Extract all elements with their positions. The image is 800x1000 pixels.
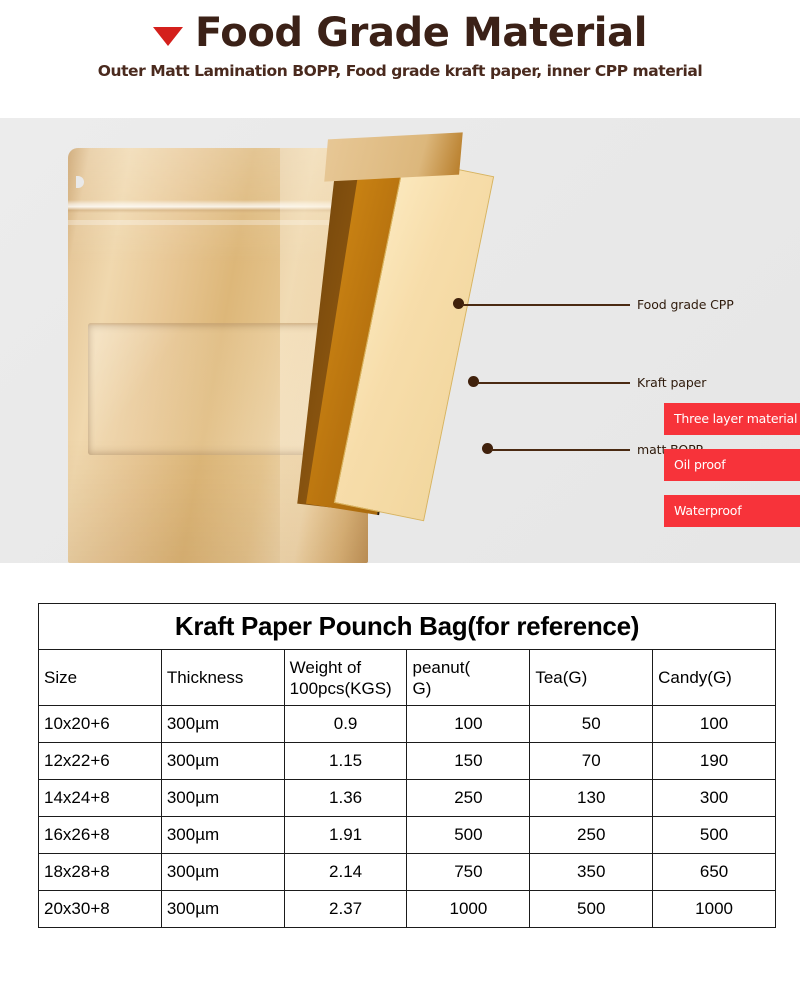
page-header: Food Grade Material Outer Matt Laminatio… bbox=[0, 0, 800, 118]
badge-oil-proof[interactable]: Oil proof bbox=[664, 449, 800, 481]
callout-line-kraft bbox=[477, 382, 630, 384]
cell-candy: 650 bbox=[653, 854, 776, 891]
cell-weight: 1.91 bbox=[284, 817, 407, 854]
feature-badges: Three layer material Oil proof Waterproo… bbox=[664, 403, 800, 541]
spec-table-wrapper: Kraft Paper Pounch Bag(for reference) Si… bbox=[38, 603, 776, 928]
bag-open-flap bbox=[324, 132, 463, 181]
cell-peanut: 1000 bbox=[407, 891, 530, 928]
callout-line-cpp bbox=[462, 304, 630, 306]
cell-thickness: 300µm bbox=[161, 706, 284, 743]
hero-image-band: Food grade CPP Kraft paper matt BOPP Thr… bbox=[0, 118, 800, 563]
cell-peanut: 250 bbox=[407, 780, 530, 817]
cell-peanut: 150 bbox=[407, 743, 530, 780]
col-header-weight-line1: Weight of bbox=[290, 658, 362, 677]
badge-three-layer-material[interactable]: Three layer material bbox=[664, 403, 800, 435]
callout-label-cpp: Food grade CPP bbox=[637, 297, 734, 312]
material-layers-illustration bbox=[300, 128, 560, 518]
cell-size: 10x20+6 bbox=[39, 706, 162, 743]
cell-size: 16x26+8 bbox=[39, 817, 162, 854]
cell-peanut: 500 bbox=[407, 817, 530, 854]
cell-tea: 130 bbox=[530, 780, 653, 817]
col-header-peanut-line1: peanut( bbox=[412, 658, 470, 677]
cell-thickness: 300µm bbox=[161, 891, 284, 928]
cell-thickness: 300µm bbox=[161, 780, 284, 817]
cell-tea: 70 bbox=[530, 743, 653, 780]
page-title: Food Grade Material bbox=[195, 10, 647, 56]
col-header-thickness: Thickness bbox=[161, 650, 284, 706]
col-header-peanut-line2: G) bbox=[412, 679, 431, 698]
cell-tea: 350 bbox=[530, 854, 653, 891]
cell-candy: 1000 bbox=[653, 891, 776, 928]
cell-weight: 0.9 bbox=[284, 706, 407, 743]
col-header-weight-line2: 100pcs(KGS) bbox=[290, 679, 392, 698]
col-header-tea: Tea(G) bbox=[530, 650, 653, 706]
cell-weight: 1.15 bbox=[284, 743, 407, 780]
cell-size: 14x24+8 bbox=[39, 780, 162, 817]
title-row: Food Grade Material bbox=[0, 0, 800, 56]
cell-candy: 500 bbox=[653, 817, 776, 854]
cell-candy: 300 bbox=[653, 780, 776, 817]
cell-thickness: 300µm bbox=[161, 743, 284, 780]
callout-label-kraft: Kraft paper bbox=[637, 375, 706, 390]
col-header-size: Size bbox=[39, 650, 162, 706]
callout-line-bopp bbox=[491, 449, 630, 451]
cell-peanut: 750 bbox=[407, 854, 530, 891]
table-title-row: Kraft Paper Pounch Bag(for reference) bbox=[39, 604, 776, 650]
cell-peanut: 100 bbox=[407, 706, 530, 743]
cell-candy: 100 bbox=[653, 706, 776, 743]
table-row: 12x22+6 300µm 1.15 150 70 190 bbox=[39, 743, 776, 780]
spec-table: Kraft Paper Pounch Bag(for reference) Si… bbox=[38, 603, 776, 928]
cell-tea: 500 bbox=[530, 891, 653, 928]
cell-weight: 1.36 bbox=[284, 780, 407, 817]
red-triangle-down-icon bbox=[153, 27, 183, 46]
cell-weight: 2.37 bbox=[284, 891, 407, 928]
col-header-peanut: peanut( G) bbox=[407, 650, 530, 706]
col-header-candy: Candy(G) bbox=[653, 650, 776, 706]
cell-candy: 190 bbox=[653, 743, 776, 780]
table-row: 18x28+8 300µm 2.14 750 350 650 bbox=[39, 854, 776, 891]
cell-weight: 2.14 bbox=[284, 854, 407, 891]
cell-size: 18x28+8 bbox=[39, 854, 162, 891]
table-row: 14x24+8 300µm 1.36 250 130 300 bbox=[39, 780, 776, 817]
page-subtitle: Outer Matt Lamination BOPP, Food grade k… bbox=[0, 62, 800, 80]
cell-size: 20x30+8 bbox=[39, 891, 162, 928]
cell-tea: 50 bbox=[530, 706, 653, 743]
cell-tea: 250 bbox=[530, 817, 653, 854]
badge-waterproof[interactable]: Waterproof bbox=[664, 495, 800, 527]
table-row: 10x20+6 300µm 0.9 100 50 100 bbox=[39, 706, 776, 743]
table-row: 20x30+8 300µm 2.37 1000 500 1000 bbox=[39, 891, 776, 928]
cell-thickness: 300µm bbox=[161, 854, 284, 891]
table-title: Kraft Paper Pounch Bag(for reference) bbox=[39, 604, 776, 650]
col-header-weight: Weight of 100pcs(KGS) bbox=[284, 650, 407, 706]
cell-size: 12x22+6 bbox=[39, 743, 162, 780]
table-row: 16x26+8 300µm 1.91 500 250 500 bbox=[39, 817, 776, 854]
table-header-row: Size Thickness Weight of 100pcs(KGS) pea… bbox=[39, 650, 776, 706]
cell-thickness: 300µm bbox=[161, 817, 284, 854]
